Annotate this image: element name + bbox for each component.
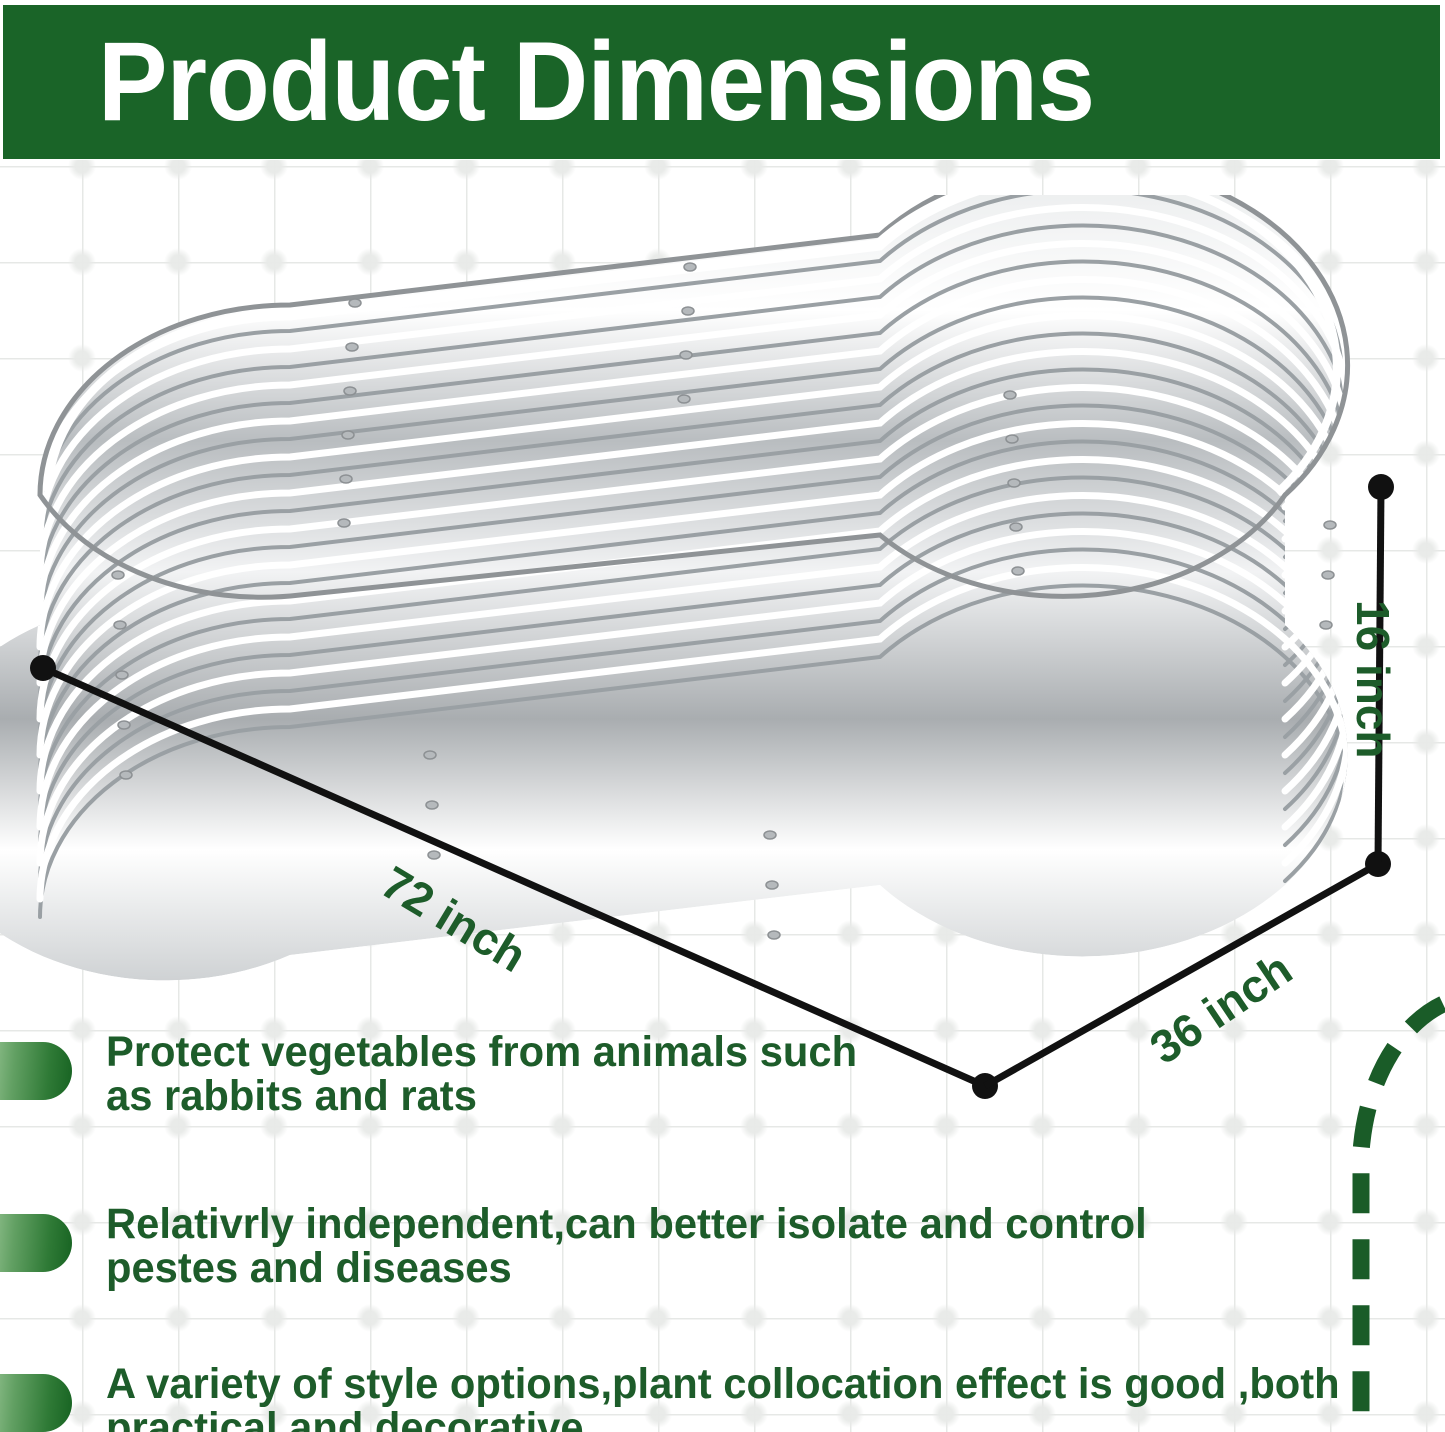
header-banner: Product Dimensions — [3, 5, 1440, 159]
list-item: Relativrly independent,can better isolat… — [0, 1202, 1445, 1352]
bullet-pill-icon — [0, 1042, 72, 1100]
page-title: Product Dimensions — [98, 26, 1094, 138]
product-illustration — [0, 195, 1400, 1075]
bullet-pill-icon — [0, 1374, 72, 1432]
feature-text: Protect vegetables from animals such as … — [106, 1030, 1396, 1119]
feature-text: A variety of style options,plant colloca… — [106, 1362, 1396, 1432]
bullet-pill-icon — [0, 1214, 72, 1272]
feature-line-2: practical and decorative — [106, 1406, 1396, 1432]
feature-line-2: pestes and diseases — [106, 1246, 1396, 1290]
list-item: A variety of style options,plant colloca… — [0, 1362, 1445, 1432]
garden-bed-svg — [0, 195, 1400, 1075]
product-dimensions-infographic: Product Dimensions — [0, 0, 1445, 1432]
feature-line-1: A variety of style options,plant colloca… — [106, 1360, 1340, 1408]
feature-line-2: as rabbits and rats — [106, 1074, 1396, 1118]
feature-list: Protect vegetables from animals such as … — [0, 1030, 1445, 1432]
list-item: Protect vegetables from animals such as … — [0, 1030, 1445, 1180]
feature-text: Relativrly independent,can better isolat… — [106, 1202, 1396, 1291]
feature-line-1: Protect vegetables from animals such — [106, 1028, 857, 1076]
feature-line-1: Relativrly independent,can better isolat… — [106, 1200, 1147, 1248]
